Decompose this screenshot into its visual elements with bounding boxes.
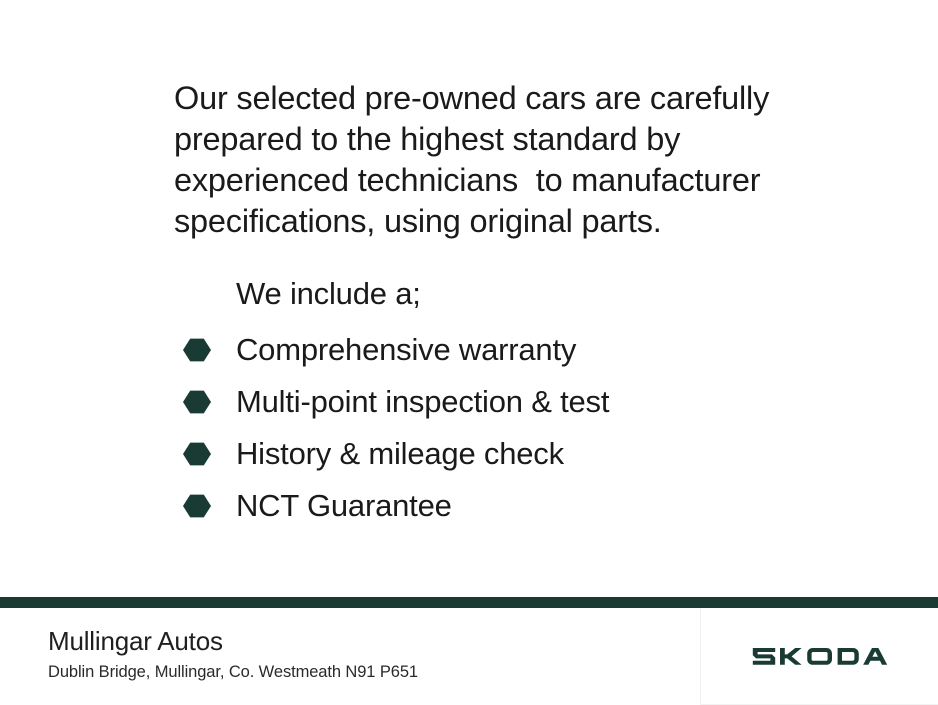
footer: Mullingar Autos Dublin Bridge, Mullingar…	[0, 608, 938, 704]
intro-paragraph: Our selected pre-owned cars are carefull…	[174, 78, 794, 242]
footer-divider-rule	[0, 597, 938, 608]
list-item: Comprehensive warranty	[182, 324, 802, 376]
hexagon-bullet-icon	[182, 387, 212, 417]
hexagon-bullet-icon	[182, 335, 212, 365]
list-item: Multi-point inspection & test	[182, 376, 802, 428]
benefit-label: Multi-point inspection & test	[236, 385, 609, 419]
benefit-label: Comprehensive warranty	[236, 333, 576, 367]
benefits-list: Comprehensive warranty Multi-point inspe…	[182, 324, 802, 532]
benefit-label: NCT Guarantee	[236, 489, 452, 523]
intro-line-2: prepared to the highest standard by	[174, 119, 794, 160]
dealer-name: Mullingar Autos	[48, 625, 418, 657]
intro-line-1: Our selected pre-owned cars are carefull…	[174, 78, 794, 119]
dealer-address: Dublin Bridge, Mullingar, Co. Westmeath …	[48, 661, 418, 683]
slide-canvas: Our selected pre-owned cars are carefull…	[0, 0, 938, 704]
hexagon-bullet-icon	[182, 491, 212, 521]
hexagon-bullet-icon	[182, 439, 212, 469]
skoda-wordmark-icon	[752, 644, 888, 669]
dealer-block: Mullingar Autos Dublin Bridge, Mullingar…	[48, 625, 418, 683]
include-heading: We include a;	[236, 274, 421, 314]
brand-logo-panel	[700, 608, 938, 705]
intro-line-3: experienced technicians to manufacturer	[174, 160, 794, 201]
list-item: History & mileage check	[182, 428, 802, 480]
list-item: NCT Guarantee	[182, 480, 802, 532]
intro-line-4: specifications, using original parts.	[174, 201, 794, 242]
benefit-label: History & mileage check	[236, 437, 564, 471]
